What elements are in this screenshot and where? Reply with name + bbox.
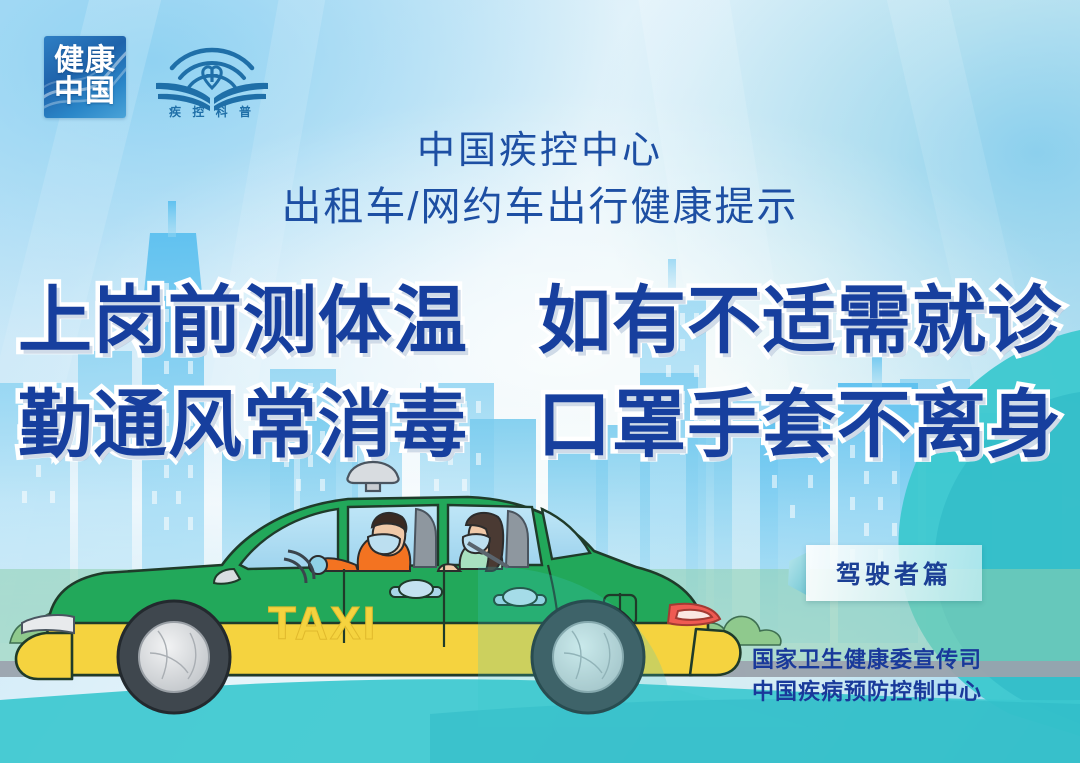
headline-row-1: 上岗前测体温 如有不适需就诊	[0, 282, 1080, 360]
title-subject: 出租车/网约车出行健康提示	[0, 180, 1080, 234]
taxi-roof-sign	[347, 462, 398, 491]
headline-1-right: 如有不适需就诊	[537, 279, 1062, 362]
badge-label: 驾驶者篇	[806, 545, 982, 601]
cdc-science-logo: 疾 控 科 普	[148, 38, 276, 118]
taxi-wheel-front	[118, 601, 230, 713]
attribution-line-2: 中国疾病预防控制中心	[752, 676, 982, 708]
logo-line-1: 健康	[54, 46, 116, 77]
taxi-label: TAXI	[268, 597, 377, 649]
taxi-illustration: TAXI	[8, 447, 808, 727]
headline-1-left: 上岗前测体温	[18, 279, 468, 362]
driver-section-badge: 驾驶者篇	[806, 545, 982, 601]
title-organization: 中国疾控中心	[0, 128, 1080, 176]
health-poster: 健康 中国	[0, 0, 1080, 763]
headline-block: 上岗前测体温 如有不适需就诊 勤通风常消毒 口罩手套不离身	[0, 282, 1080, 465]
logo-group: 健康 中国	[44, 36, 276, 118]
title-block: 中国疾控中心 出租车/网约车出行健康提示	[0, 128, 1080, 234]
attribution-line-1: 国家卫生健康委宣传司	[752, 644, 982, 676]
cdc-science-logo-caption: 疾 控 科 普	[148, 103, 276, 120]
attribution-block: 国家卫生健康委宣传司 中国疾病预防控制中心	[752, 644, 982, 708]
logo-line-2: 中国	[54, 77, 116, 108]
health-china-logo: 健康 中国	[44, 36, 126, 118]
taillight	[668, 604, 720, 625]
health-china-logo-text: 健康 中国	[44, 36, 126, 118]
headlight	[22, 615, 74, 633]
